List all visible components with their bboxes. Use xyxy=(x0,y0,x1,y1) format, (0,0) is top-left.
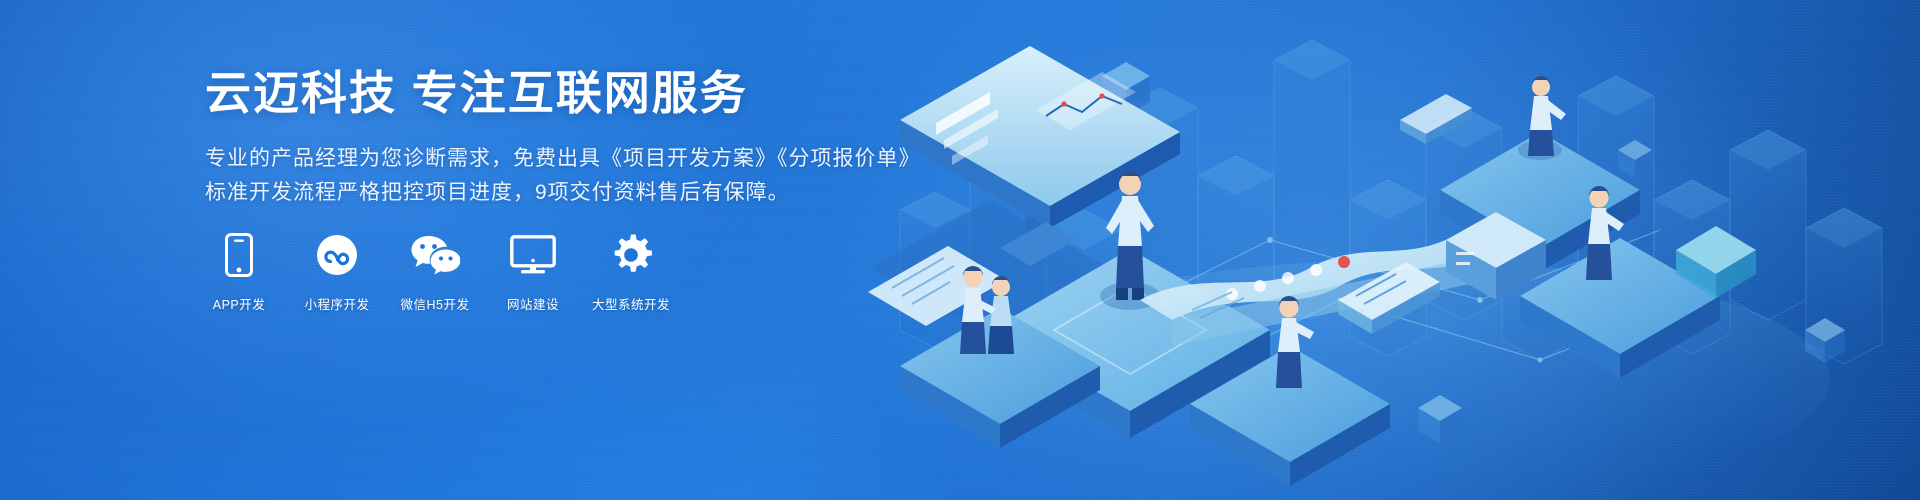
subtitle-line-1: 专业的产品经理为您诊断需求，免费出具《项目开发方案》《分项报价单》 xyxy=(205,142,1105,176)
page-title: 云迈科技 专注互联网服务 xyxy=(205,66,1105,120)
service-label: 网站建设 xyxy=(507,294,559,313)
gear-icon xyxy=(595,232,667,278)
service-item-app[interactable]: APP开发 xyxy=(203,232,275,313)
service-label: APP开发 xyxy=(213,294,266,313)
person-sitting-upper-right xyxy=(1518,76,1566,160)
service-item-system[interactable]: 大型系统开发 xyxy=(595,232,667,313)
service-item-miniprogram[interactable]: 小程序开发 xyxy=(301,232,373,313)
service-label: 微信H5开发 xyxy=(401,294,470,313)
service-list: APP开发 小程序开发 xyxy=(203,232,667,313)
mini-program-icon xyxy=(301,232,373,278)
subtitle-block: 专业的产品经理为您诊断需求，免费出具《项目开发方案》《分项报价单》 标准开发流程… xyxy=(205,142,1105,210)
service-label: 大型系统开发 xyxy=(592,294,670,313)
service-item-wechat[interactable]: 微信H5开发 xyxy=(399,232,471,313)
promo-banner: 云迈科技 专注互联网服务 专业的产品经理为您诊断需求，免费出具《项目开发方案》《… xyxy=(0,0,1920,500)
service-item-website[interactable]: 网站建设 xyxy=(497,232,569,313)
service-label: 小程序开发 xyxy=(304,294,369,313)
monitor-icon xyxy=(497,232,569,278)
subtitle-line-2: 标准开发流程严格把控项目进度，9项交付资料售后有保障。 xyxy=(205,176,1105,210)
banner-copy: 云迈科技 专注互联网服务 专业的产品经理为您诊断需求，免费出具《项目开发方案》《… xyxy=(205,66,1105,210)
mobile-phone-icon xyxy=(203,232,275,278)
wechat-icon xyxy=(399,232,471,278)
